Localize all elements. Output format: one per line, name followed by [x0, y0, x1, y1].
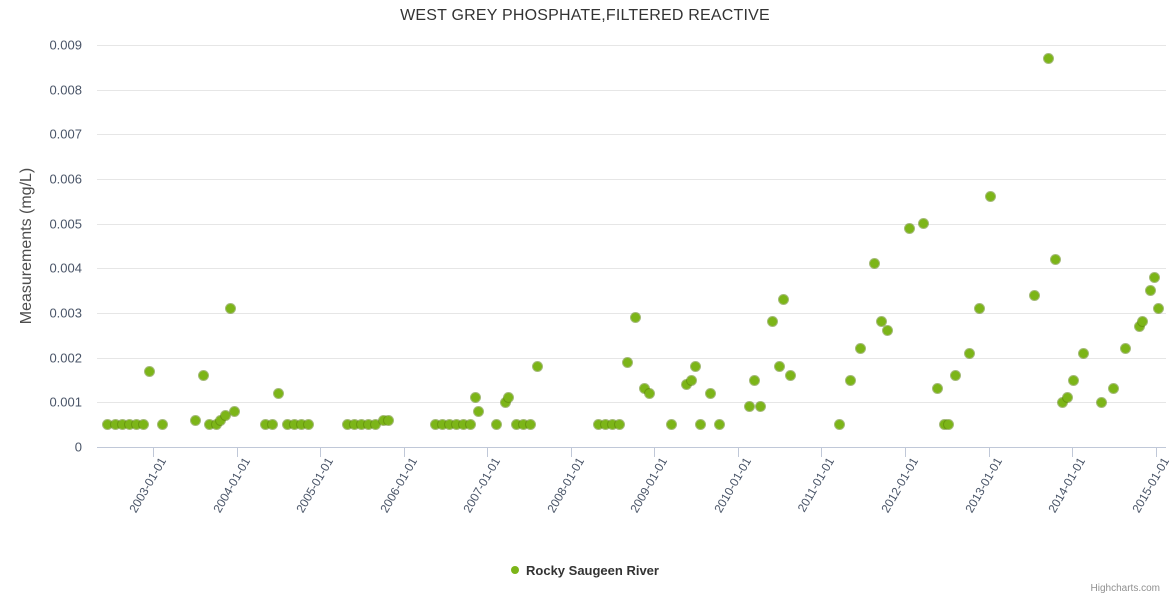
x-axis-tick — [738, 448, 739, 457]
data-point[interactable] — [1097, 398, 1106, 407]
data-point[interactable] — [268, 420, 277, 429]
gridline — [97, 268, 1166, 269]
data-point[interactable] — [856, 344, 865, 353]
data-point[interactable] — [466, 420, 475, 429]
data-point[interactable] — [158, 420, 167, 429]
gridline — [97, 179, 1166, 180]
data-point[interactable] — [986, 192, 995, 201]
data-point[interactable] — [687, 376, 696, 385]
x-axis-tick-label: 2015-01-01 — [1129, 455, 1170, 515]
data-point[interactable] — [274, 389, 283, 398]
data-point[interactable] — [944, 420, 953, 429]
data-point[interactable] — [304, 420, 313, 429]
data-point[interactable] — [1051, 255, 1060, 264]
legend-marker-icon — [511, 566, 519, 574]
x-axis-tick — [1072, 448, 1073, 457]
y-axis-tick-label: 0.006 — [49, 172, 82, 187]
x-axis-tick-label: 2013-01-01 — [962, 455, 1005, 515]
chart-container: WEST GREY PHOSPHATE,FILTERED REACTIVE Me… — [0, 0, 1170, 600]
data-point[interactable] — [1121, 344, 1130, 353]
x-axis-tick-label: 2006-01-01 — [377, 455, 420, 515]
data-point[interactable] — [384, 416, 393, 425]
data-point[interactable] — [199, 371, 208, 380]
x-axis-tick — [404, 448, 405, 457]
data-point[interactable] — [835, 420, 844, 429]
y-axis-tick-label: 0.009 — [49, 38, 82, 53]
x-axis-tick — [153, 448, 154, 457]
data-point[interactable] — [870, 259, 879, 268]
data-point[interactable] — [1154, 304, 1163, 313]
x-axis-tick-label: 2008-01-01 — [544, 455, 587, 515]
legend-item-rocky-saugeen-river[interactable]: Rocky Saugeen River — [511, 562, 659, 578]
data-point[interactable] — [631, 313, 640, 322]
data-point[interactable] — [756, 402, 765, 411]
data-point[interactable] — [750, 376, 759, 385]
y-axis-tick-label: 0.003 — [49, 306, 82, 321]
data-point[interactable] — [706, 389, 715, 398]
x-axis-tick — [237, 448, 238, 457]
x-axis-tick-label: 2007-01-01 — [461, 455, 504, 515]
y-axis-tick-label: 0.008 — [49, 82, 82, 97]
x-axis-line — [97, 447, 1166, 448]
gridline — [97, 134, 1166, 135]
y-axis-tick-label: 0.001 — [49, 395, 82, 410]
data-point[interactable] — [715, 420, 724, 429]
data-point[interactable] — [1063, 393, 1072, 402]
data-point[interactable] — [1079, 349, 1088, 358]
y-axis-tick-label: 0.002 — [49, 350, 82, 365]
data-point[interactable] — [846, 376, 855, 385]
chart-title: WEST GREY PHOSPHATE,FILTERED REACTIVE — [0, 7, 1170, 25]
x-axis-tick-label: 2014-01-01 — [1046, 455, 1089, 515]
gridline — [97, 402, 1166, 403]
data-point[interactable] — [745, 402, 754, 411]
data-point[interactable] — [691, 362, 700, 371]
data-point[interactable] — [533, 362, 542, 371]
data-point[interactable] — [965, 349, 974, 358]
data-point[interactable] — [1138, 317, 1147, 326]
legend: Rocky Saugeen River — [0, 562, 1170, 578]
data-point[interactable] — [667, 420, 676, 429]
y-axis-tick-label: 0 — [75, 440, 82, 455]
data-point[interactable] — [919, 219, 928, 228]
data-point[interactable] — [768, 317, 777, 326]
data-point[interactable] — [975, 304, 984, 313]
x-axis-tick — [905, 448, 906, 457]
data-point[interactable] — [226, 304, 235, 313]
data-point[interactable] — [645, 389, 654, 398]
data-point[interactable] — [615, 420, 624, 429]
data-point[interactable] — [191, 416, 200, 425]
data-point[interactable] — [623, 358, 632, 367]
x-axis-tick — [487, 448, 488, 457]
data-point[interactable] — [474, 407, 483, 416]
data-point[interactable] — [504, 393, 513, 402]
x-axis-tick — [989, 448, 990, 457]
data-point[interactable] — [775, 362, 784, 371]
x-axis-tick-label: 2011-01-01 — [795, 455, 837, 514]
y-axis-tick-label: 0.007 — [49, 127, 82, 142]
data-point[interactable] — [1044, 54, 1053, 63]
x-axis-tick — [571, 448, 572, 457]
data-point[interactable] — [230, 407, 239, 416]
data-point[interactable] — [786, 371, 795, 380]
data-point[interactable] — [221, 411, 230, 420]
y-axis-tick-label: 0.004 — [49, 261, 82, 276]
data-point[interactable] — [779, 295, 788, 304]
x-axis-tick — [654, 448, 655, 457]
x-axis-tick-label: 2012-01-01 — [878, 455, 921, 515]
credits-link[interactable]: Highcharts.com — [1091, 583, 1160, 594]
data-point[interactable] — [905, 224, 914, 233]
data-point[interactable] — [1146, 286, 1155, 295]
data-point[interactable] — [1030, 291, 1039, 300]
data-point[interactable] — [1109, 384, 1118, 393]
x-axis-tick — [1156, 448, 1157, 457]
data-point[interactable] — [139, 420, 148, 429]
data-point[interactable] — [883, 326, 892, 335]
data-point[interactable] — [951, 371, 960, 380]
y-axis-title: Measurements (mg/L) — [18, 168, 36, 325]
x-axis-tick-label: 2010-01-01 — [711, 455, 754, 515]
data-point[interactable] — [492, 420, 501, 429]
x-axis-tick — [320, 448, 321, 457]
x-axis-tick-label: 2004-01-01 — [210, 455, 253, 515]
legend-label: Rocky Saugeen River — [526, 563, 659, 578]
x-axis-tick — [821, 448, 822, 457]
data-point[interactable] — [471, 393, 480, 402]
data-point[interactable] — [933, 384, 942, 393]
data-point[interactable] — [1150, 273, 1159, 282]
data-point[interactable] — [696, 420, 705, 429]
gridline — [97, 90, 1166, 91]
data-point[interactable] — [145, 367, 154, 376]
gridline — [97, 358, 1166, 359]
x-axis-tick-label: 2005-01-01 — [294, 455, 337, 515]
plot-area — [97, 45, 1166, 447]
y-axis-tick-label: 0.005 — [49, 216, 82, 231]
gridline — [97, 45, 1166, 46]
x-axis-tick-label: 2003-01-01 — [126, 455, 169, 515]
data-point[interactable] — [526, 420, 535, 429]
x-axis-tick-label: 2009-01-01 — [628, 455, 671, 515]
data-point[interactable] — [877, 317, 886, 326]
gridline — [97, 224, 1166, 225]
data-point[interactable] — [1069, 376, 1078, 385]
